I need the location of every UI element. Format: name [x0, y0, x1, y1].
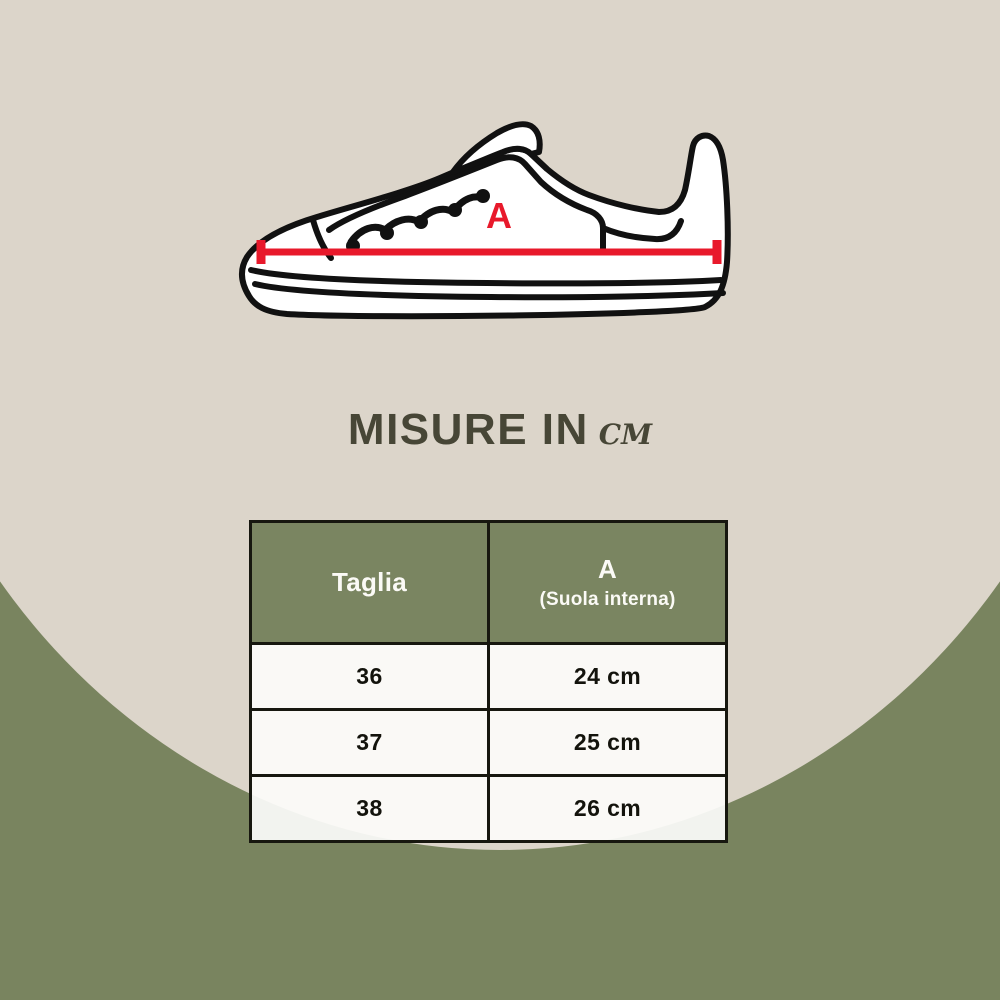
table-row: 36 24 cm: [251, 644, 727, 710]
page-title-main: MISURE IN: [348, 405, 589, 454]
page-title: MISURE INcm: [0, 408, 1000, 452]
cell-length: 25 cm: [489, 710, 727, 776]
cell-size: 36: [251, 644, 489, 710]
table-header-size-label: Taglia: [258, 567, 481, 598]
cell-length: 24 cm: [489, 644, 727, 710]
table-head: Taglia A (Suola interna): [251, 522, 727, 644]
measure-label-a: A: [486, 195, 512, 236]
cell-size: 38: [251, 776, 489, 842]
sneaker-illustration: A: [225, 100, 755, 345]
table-header-length: A (Suola interna): [489, 522, 727, 644]
table-body: 36 24 cm 37 25 cm 38 26 cm: [251, 644, 727, 842]
size-chart-table: Taglia A (Suola interna) 36 24 cm 37 25 …: [249, 520, 728, 843]
table-header-length-label: A: [496, 554, 719, 585]
table-header-row: Taglia A (Suola interna): [251, 522, 727, 644]
table-header-size: Taglia: [251, 522, 489, 644]
cell-size: 37: [251, 710, 489, 776]
size-guide-canvas: A MISURE INcm Taglia A (Suola interna): [0, 0, 1000, 1000]
table-row: 37 25 cm: [251, 710, 727, 776]
shoe-outline-group: [242, 124, 728, 316]
page-title-unit: cm: [599, 407, 652, 454]
table-header-length-sublabel: (Suola interna): [496, 589, 719, 611]
cell-length: 26 cm: [489, 776, 727, 842]
table-row: 38 26 cm: [251, 776, 727, 842]
